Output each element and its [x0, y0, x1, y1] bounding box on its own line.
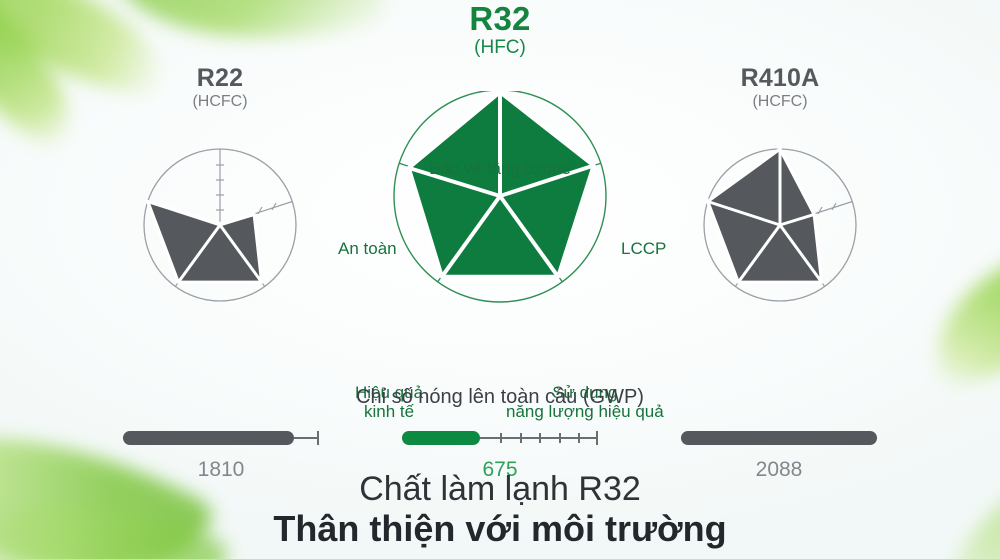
r22-axis-ticks [216, 165, 276, 214]
gwp-fill-r32 [402, 431, 480, 445]
gwp-tick-3 [539, 433, 541, 443]
leaf-decoration-top-left-b [0, 0, 102, 152]
r32-title: R32 [360, 2, 640, 35]
gwp-track-r410a [681, 427, 877, 449]
headline-line1: Chất làm lạnh R32 [0, 470, 1000, 508]
refrigerant-card-r410a: R410A (HCFC) [670, 66, 890, 325]
r410a-radar-svg [670, 125, 890, 325]
gwp-tick-2 [520, 433, 522, 443]
axis-label-ozone: Bảo vệ tầng ozone [429, 159, 571, 179]
gwp-tick-4 [559, 433, 561, 443]
leaf-decoration-right [917, 244, 1000, 389]
headline-block: Chất làm lạnh R32 Thân thiện với môi trư… [0, 470, 1000, 550]
infographic-canvas: R22 (HCFC) [0, 0, 1000, 559]
r22-family: (HCFC) [110, 91, 330, 113]
gwp-endcap-r22 [317, 431, 319, 445]
r32-radar-svg [360, 91, 640, 331]
gwp-fill-r410a [681, 431, 877, 445]
axis-label-lccp: LCCP [621, 239, 666, 259]
axis-label-safety: An toàn [338, 239, 397, 259]
gwp-tick-5 [578, 433, 580, 443]
refrigerant-card-r32: R32 (HFC) Bảo vệ tầng ozone LCCP An toàn… [360, 2, 640, 331]
gwp-track-r32 [402, 427, 598, 449]
gwp-track-r22 [123, 427, 319, 449]
r32-family: (HFC) [360, 35, 640, 61]
refrigerant-card-r22: R22 (HCFC) [110, 66, 330, 325]
r32-radar-chart: Bảo vệ tầng ozone LCCP An toàn Hiệu quả … [360, 91, 640, 331]
r22-radar-svg [110, 125, 330, 325]
r410a-title: R410A [670, 66, 890, 91]
r22-data-polygon [148, 201, 262, 282]
r22-radar-chart [110, 125, 330, 325]
gwp-tick-1 [500, 433, 502, 443]
gwp-heading: Chỉ số nóng lên toàn cầu (GWP) [0, 386, 1000, 409]
r410a-data-polygon [708, 149, 822, 282]
gwp-endcap-r32 [596, 431, 598, 445]
r410a-family: (HCFC) [670, 91, 890, 113]
r410a-radar-chart [670, 125, 890, 325]
headline-line2: Thân thiện với môi trường [0, 508, 1000, 550]
r22-title: R22 [110, 66, 330, 91]
leaf-decoration-top-left-c [110, 0, 389, 76]
gwp-fill-r22 [123, 431, 294, 445]
